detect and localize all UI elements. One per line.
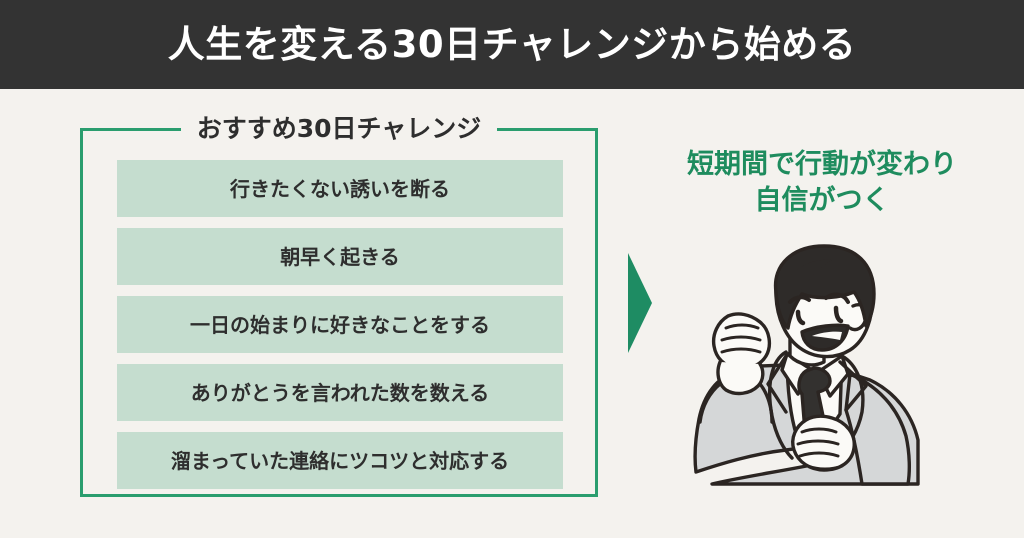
list-item: 一日の始まりに好きなことをする bbox=[117, 296, 563, 353]
outcome-line-1: 短期間で行動が変わり bbox=[640, 147, 1004, 183]
outcome-line-2: 自信がつく bbox=[640, 183, 1004, 219]
outcome-text: 短期間で行動が変わり 自信がつく bbox=[640, 147, 1004, 218]
list-item: 溜まっていた連絡にツコツと対応する bbox=[117, 432, 563, 489]
right-triangle-arrow-icon bbox=[628, 253, 652, 353]
list-item-label: ありがとうを言われた数を数える bbox=[191, 383, 489, 403]
list-item: 行きたくない誘いを断る bbox=[117, 160, 563, 217]
list-item: ありがとうを言われた数を数える bbox=[117, 364, 563, 421]
list-item-label: 行きたくない誘いを断る bbox=[230, 179, 450, 199]
content-area: おすすめ30日チャレンジ 行きたくない誘いを断る 朝早く起きる 一日の始まりに好… bbox=[0, 89, 1024, 538]
list-item-label: 一日の始まりに好きなことをする bbox=[190, 315, 490, 335]
challenge-list: 行きたくない誘いを断る 朝早く起きる 一日の始まりに好きなことをする ありがとう… bbox=[117, 160, 563, 500]
page-title: 人生を変える30日チャレンジから始める bbox=[168, 26, 857, 63]
list-item-label: 溜まっていた連絡にツコツと対応する bbox=[171, 451, 509, 471]
confident-businessman-illustration bbox=[690, 244, 922, 496]
header-band: 人生を変える30日チャレンジから始める bbox=[0, 0, 1024, 89]
list-item-label: 朝早く起きる bbox=[280, 247, 400, 267]
list-item: 朝早く起きる bbox=[117, 228, 563, 285]
